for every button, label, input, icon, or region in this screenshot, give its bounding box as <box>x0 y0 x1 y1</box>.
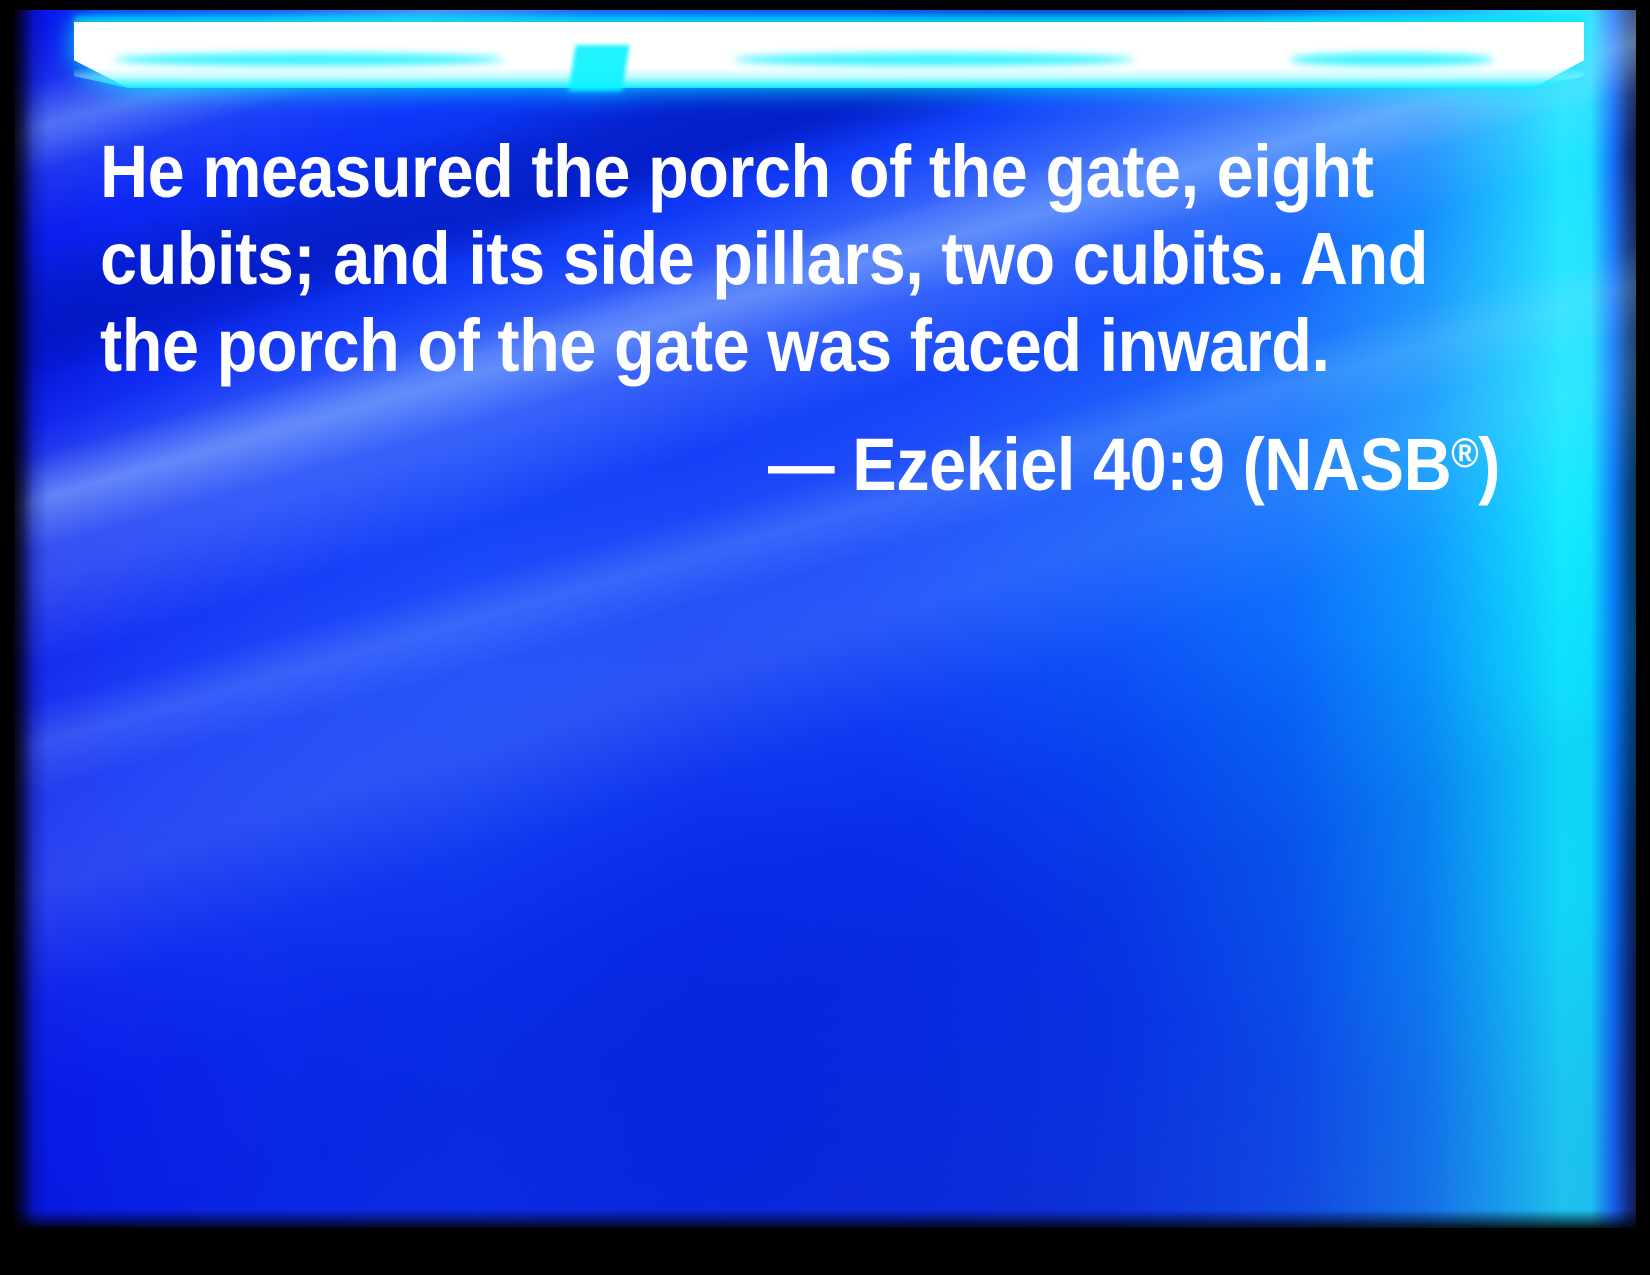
band-cyan-notch <box>568 45 629 91</box>
band-wisp-left <box>114 53 504 66</box>
background-left-rim-shadow <box>14 10 48 1228</box>
slide-artwork-panel: He measured the porch of the gate, eight… <box>14 10 1636 1228</box>
verse-attribution: — Ezekiel 40:9 (NASB®) <box>240 389 1500 508</box>
verse-text-block: He measured the porch of the gate, eight… <box>100 128 1500 508</box>
attribution-translation-open: (NASB <box>1243 423 1452 506</box>
band-wisp-center <box>734 53 1134 66</box>
attribution-dash: — <box>768 423 834 506</box>
verse-line-3: the porch of the gate was faced inward. <box>100 302 1360 389</box>
verse-line-1: He measured the porch of the gate, eight <box>100 128 1360 215</box>
band-wisp-right <box>1289 53 1494 66</box>
verse-line-2: cubits; and its side pillars, two cubits… <box>100 215 1360 302</box>
attribution-chapter-verse: 40:9 <box>1093 423 1224 506</box>
verse-slide: He measured the porch of the gate, eight… <box>0 0 1650 1275</box>
background-bottom-rim-shadow <box>14 1210 1636 1228</box>
attribution-book: Ezekiel <box>852 423 1075 506</box>
band-cyan-underglow <box>74 68 1584 88</box>
attribution-translation-close: ) <box>1478 423 1500 506</box>
registered-trademark-icon: ® <box>1451 429 1478 476</box>
decorative-light-band <box>74 22 1584 88</box>
